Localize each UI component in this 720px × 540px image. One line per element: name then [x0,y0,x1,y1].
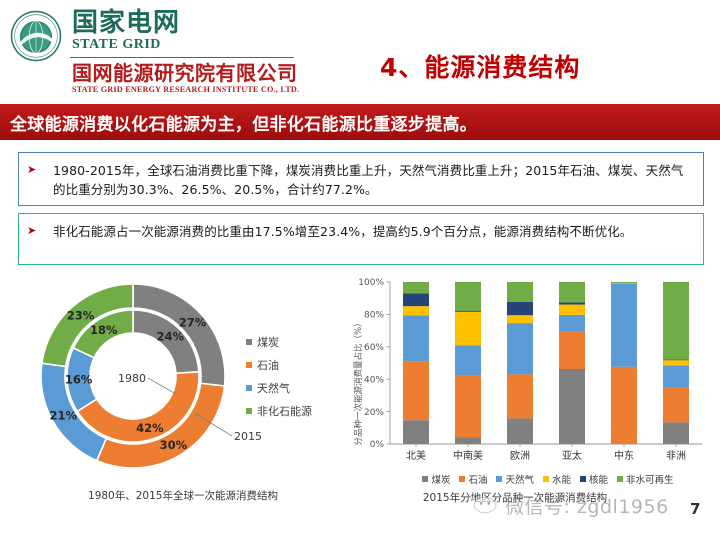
donut-slice-value-label: 42% [136,421,164,435]
donut-legend-label: 非化石能源 [257,403,312,419]
state-grid-globe-logo-icon [8,10,64,62]
bar-segment [455,282,481,311]
y-axis-tick-label: 0% [370,440,385,450]
legend-swatch-icon [459,476,465,482]
x-axis-tick-label: 亚太 [562,449,582,462]
bullet-text-1: 1980-2015年，全球石油消费比重下降，煤炭消费比重上升，天然气消费比重上升… [53,153,703,205]
bar-segment [403,420,429,444]
donut-slice-value-label: 27% [179,316,207,330]
bar-segment [455,376,481,438]
slide-canvas: 国家电网 STATE GRID 国网能源研究院有限公司 STATE GRID E… [0,0,720,540]
bar-segment [403,315,429,361]
stacked-bar-chart-svg: 0%20%40%60%80%100% 北美中南美欧洲亚太中东非洲 分品种一次能源… [350,272,710,472]
bar-segment [403,306,429,315]
bar-legend-item[interactable]: 水能 [543,472,571,486]
bullet-box-1: ➤ 1980-2015年，全球石油消费比重下降，煤炭消费比重上升，天然气消费比重… [18,152,704,206]
bar-legend-item[interactable]: 石油 [459,472,487,486]
bar-segment [611,283,637,366]
legend-swatch-icon [246,362,252,368]
bar-legend-item[interactable]: 天然气 [496,472,534,486]
bar-segment [507,315,533,323]
bar-segment [507,374,533,418]
bar-segment [455,312,481,345]
donut-chart-panel: 27%30%21%23%24%42%16%18% 1980 2015 煤炭石油天… [18,272,348,517]
bullet-box-2: ➤ 非化石能源占一次能源消费的比重由17.5%增至23.4%，提高约5.9个百分… [18,213,704,265]
brand-name-cn: 国家电网 [72,10,180,36]
section-banner: 全球能源消费以化石能源为主，但非化石能源比重逐步提高。 [0,104,720,140]
y-axis-tick-label: 100% [358,278,384,288]
donut-legend-label: 天然气 [257,380,290,396]
bullet-text-2: 非化石能源占一次能源消费的比重由17.5%增至23.4%，提高约5.9个百分点，… [53,214,703,264]
bar-legend-label: 石油 [468,472,487,486]
donut-slice-value-label: 24% [157,329,185,343]
donut-inner-year-label: 1980 [118,372,146,385]
donut-slice-value-label: 18% [90,323,118,337]
donut-legend-item[interactable]: 非化石能源 [246,403,346,419]
donut-slice-value-label: 30% [160,438,188,452]
y-axis-tick-label: 80% [364,311,384,321]
legend-swatch-icon [422,476,428,482]
wechat-ghost-icon [468,494,502,516]
bar-legend-label: 非水可再生 [626,472,674,486]
bar-segment [611,283,637,284]
bar-segment [663,282,689,360]
bar-legend-label: 煤炭 [431,472,450,486]
page-title: 4、能源消费结构 [380,48,710,84]
bar-segment [559,302,585,304]
legend-swatch-icon [246,339,252,345]
bar-segment [507,302,533,315]
donut-legend-item[interactable]: 煤炭 [246,334,346,350]
y-axis-tick-label: 60% [364,343,384,353]
bar-segment [403,293,429,306]
bar-segment [611,443,637,444]
bar-segment [403,361,429,420]
bar-chart-y-axis-label: 分品种一次能源消费量占比（%） [353,318,364,445]
bar-segment [611,367,637,444]
bar-segment [559,315,585,332]
donut-outer-year-label: 2015 [234,430,262,443]
bar-segment [663,365,689,387]
bar-segment [559,332,585,369]
donut-chart: 27%30%21%23%24%42%16%18% 1980 2015 [28,274,278,484]
watermark-text: 微信号: zgdl1956 [505,492,669,519]
bar-segment [611,282,637,283]
bar-segment [455,345,481,375]
bar-legend-item[interactable]: 非水可再生 [617,472,674,486]
legend-swatch-icon [496,476,502,482]
bar-chart-panel: 0%20%40%60%80%100% 北美中南美欧洲亚太中东非洲 分品种一次能源… [350,272,710,517]
brand-divider [70,57,294,58]
legend-swatch-icon [543,476,549,482]
bar-segment [559,305,585,315]
bar-segment [507,282,533,302]
brand-name-en: STATE GRID [72,37,161,52]
donut-legend-label: 石油 [257,357,279,373]
bullet-arrow-icon: ➤ [19,214,53,264]
donut-chart-caption: 1980年、2015年全球一次能源消费结构 [18,488,348,503]
bar-segment [507,418,533,444]
bar-legend-label: 核能 [589,472,608,486]
bar-segment [559,369,585,444]
bar-legend-item[interactable]: 煤炭 [422,472,450,486]
bar-legend-item[interactable]: 核能 [580,472,608,486]
slide-header: 国家电网 STATE GRID 国网能源研究院有限公司 STATE GRID E… [0,0,720,103]
bar-legend-label: 水能 [552,472,571,486]
legend-swatch-icon [246,385,252,391]
x-axis-tick-label: 中东 [614,449,634,462]
bar-segment [403,282,429,293]
y-axis-tick-label: 40% [364,375,384,385]
bar-chart-legend: 煤炭石油天然气水能核能非水可再生 [398,472,698,486]
donut-legend-item[interactable]: 石油 [246,357,346,373]
x-axis-tick-label: 非洲 [666,450,686,462]
x-axis-tick-label: 中南美 [453,449,483,462]
bar-segment [455,311,481,312]
bar-segment [507,323,533,374]
bullet-arrow-icon: ➤ [19,153,53,205]
section-banner-text: 全球能源消费以化石能源为主，但非化石能源比重逐步提高。 [0,110,477,135]
donut-legend-label: 煤炭 [257,334,279,350]
x-axis-tick-label: 欧洲 [510,450,530,462]
bar-segment [663,360,689,365]
bar-segment [663,388,689,423]
legend-swatch-icon [580,476,586,482]
bar-legend-label: 天然气 [505,472,534,486]
donut-legend-item[interactable]: 天然气 [246,380,346,396]
legend-swatch-icon [246,408,252,414]
donut-slice-value-label: 21% [50,408,78,422]
donut-legend: 煤炭石油天然气非化石能源 [246,334,346,426]
bar-segment [455,438,481,444]
brand-block: 国家电网 STATE GRID 国网能源研究院有限公司 STATE GRID E… [6,6,302,98]
donut-chart-svg: 27%30%21%23%24%42%16%18% 1980 2015 [28,274,278,484]
bar-segment [663,422,689,444]
institute-name-cn: 国网能源研究院有限公司 [72,62,298,84]
bar-segment [663,360,689,361]
donut-slice-value-label: 23% [67,309,95,323]
y-axis-tick-label: 20% [364,408,384,418]
x-axis-tick-label: 北美 [406,449,426,462]
legend-swatch-icon [617,476,623,482]
page-number: 7 [690,500,700,518]
bar-segment [559,282,585,302]
donut-slice-value-label: 16% [65,372,93,386]
institute-name-en: STATE GRID ENERGY RESEARCH INSTITUTE CO.… [72,85,299,94]
